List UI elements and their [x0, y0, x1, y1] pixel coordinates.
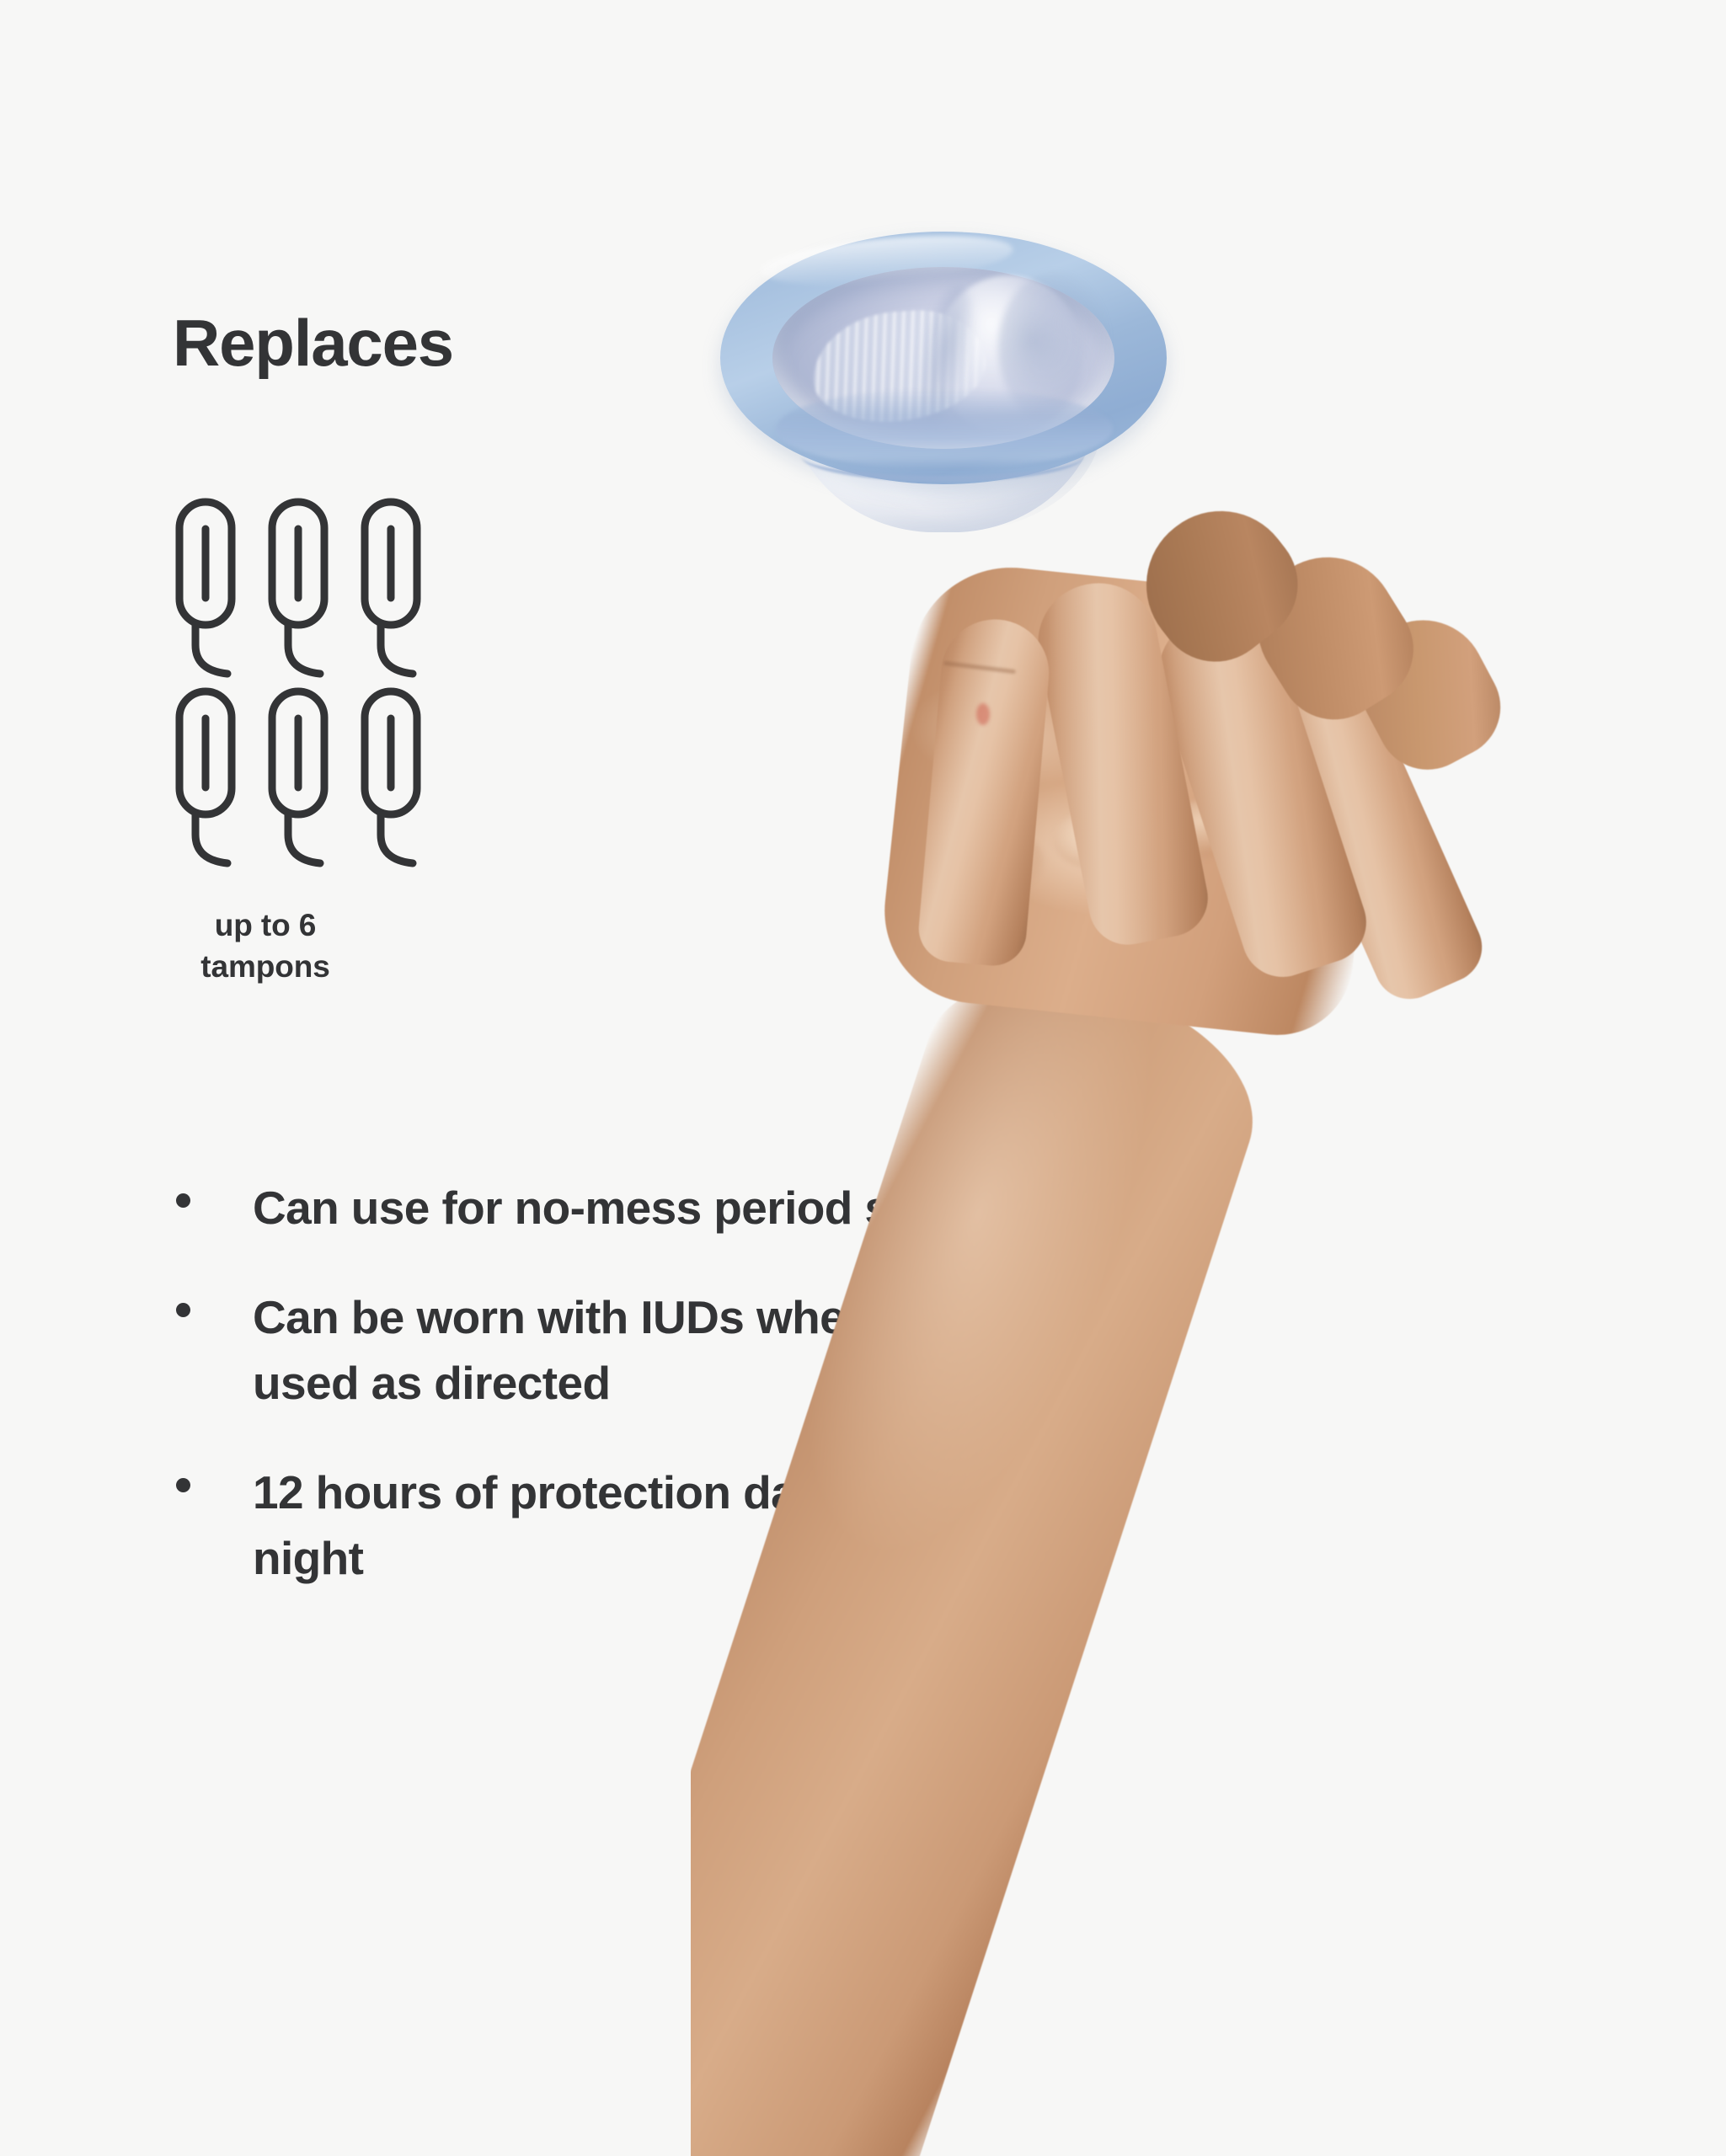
tampon-icon-row	[168, 495, 446, 685]
product-photo	[691, 0, 1726, 2156]
bullet-point-icon	[164, 1478, 253, 1492]
page-title: Replaces	[173, 310, 453, 376]
bullet-point-icon	[164, 1303, 253, 1317]
menstrual-disc	[720, 232, 1167, 539]
bullet-point-icon	[164, 1193, 253, 1208]
tampon-icon	[168, 685, 261, 874]
tampon-icon	[261, 495, 354, 685]
product-feature-panel: Replaces	[0, 0, 1726, 2156]
tampon-icon	[168, 495, 261, 685]
tampon-icon	[354, 495, 446, 685]
caption-line-1: up to 6	[168, 905, 362, 947]
tampon-comparison-icons	[168, 495, 446, 874]
caption-line-2: tampons	[168, 947, 362, 988]
tampon-comparison-caption: up to 6 tampons	[168, 905, 362, 988]
index-finger-mark	[976, 703, 990, 725]
disc-rim-edge	[801, 430, 1084, 482]
tampon-icon	[261, 685, 354, 874]
tampon-icon-row	[168, 685, 446, 874]
tampon-icon	[354, 685, 446, 874]
